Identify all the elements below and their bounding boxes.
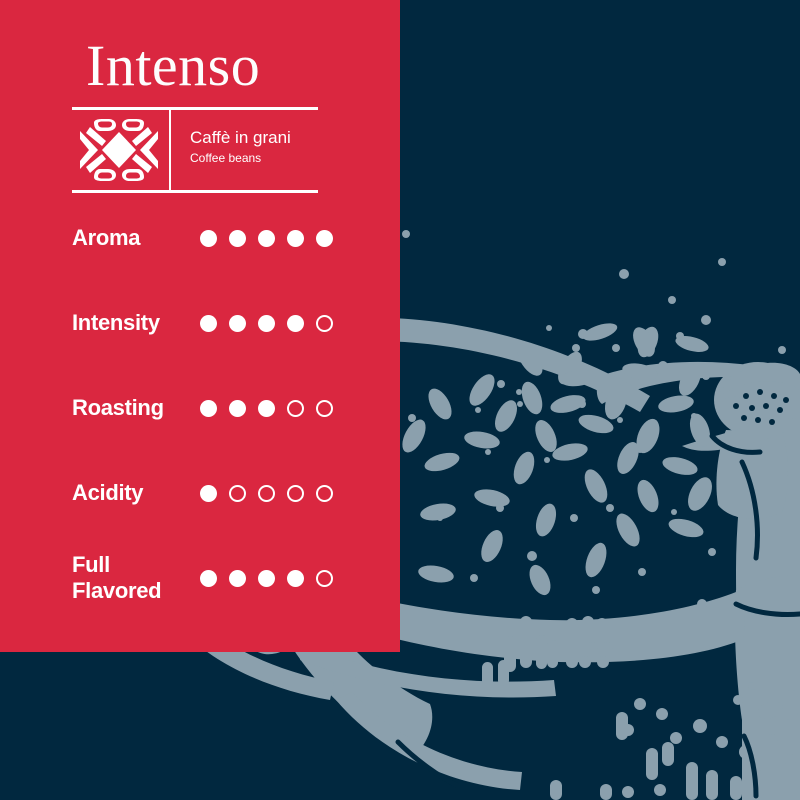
rating-dots-roasting[interactable] (200, 400, 342, 417)
page-title: Intenso (86, 34, 260, 98)
rating-dot-empty[interactable] (258, 485, 275, 502)
rating-dot-empty[interactable] (316, 315, 333, 332)
rating-dot-filled[interactable] (200, 315, 217, 332)
rating-dot-empty[interactable] (287, 400, 304, 417)
rating-dot-filled[interactable] (258, 230, 275, 247)
rating-dots-aroma[interactable] (200, 230, 342, 247)
rating-dot-filled[interactable] (258, 570, 275, 587)
product-info-panel: Intenso Caf (0, 0, 400, 652)
rating-dot-filled[interactable] (287, 570, 304, 587)
product-type-italian: Caffè in grani (190, 127, 316, 148)
rating-row: Acidity (72, 467, 342, 552)
rating-row: Intensity (72, 297, 342, 382)
rating-dots-full-flavored[interactable] (200, 570, 342, 587)
divider-top (72, 107, 318, 110)
identity-text: Caffè in grani Coffee beans (190, 127, 316, 166)
rating-dot-empty[interactable] (287, 485, 304, 502)
rating-label-acidity: Acidity (72, 480, 192, 506)
rating-dot-filled[interactable] (258, 315, 275, 332)
rating-dot-filled[interactable] (200, 570, 217, 587)
rating-dot-filled[interactable] (200, 485, 217, 502)
rating-dot-filled[interactable] (287, 230, 304, 247)
divider-vertical (169, 109, 171, 191)
rating-dot-filled[interactable] (200, 230, 217, 247)
rating-dot-empty[interactable] (229, 485, 246, 502)
product-type-english: Coffee beans (190, 150, 316, 166)
rating-label-aroma: Aroma (72, 225, 192, 251)
rating-dot-empty[interactable] (316, 400, 333, 417)
rating-dot-filled[interactable] (229, 315, 246, 332)
rating-dot-empty[interactable] (316, 570, 333, 587)
rating-row: FullFlavored (72, 552, 342, 637)
rating-dot-filled[interactable] (229, 230, 246, 247)
rating-row: Aroma (72, 212, 342, 297)
rating-dot-filled[interactable] (287, 315, 304, 332)
divider-bottom (72, 190, 318, 193)
rating-dots-acidity[interactable] (200, 485, 342, 502)
rating-label-intensity: Intensity (72, 310, 192, 336)
rating-dot-filled[interactable] (258, 400, 275, 417)
rating-dot-filled[interactable] (200, 400, 217, 417)
rating-label-full-flavored: FullFlavored (72, 552, 192, 604)
rating-label-roasting: Roasting (72, 395, 192, 421)
rating-dot-filled[interactable] (229, 400, 246, 417)
ratings-list: AromaIntensityRoastingAcidityFullFlavore… (72, 212, 342, 637)
rating-dot-filled[interactable] (229, 570, 246, 587)
rating-dot-empty[interactable] (316, 485, 333, 502)
identity-block: Caffè in grani Coffee beans (72, 107, 318, 193)
rating-dot-filled[interactable] (316, 230, 333, 247)
rating-dots-intensity[interactable] (200, 315, 342, 332)
geometric-diamond-ornament-icon (76, 119, 162, 181)
rating-row: Roasting (72, 382, 342, 467)
